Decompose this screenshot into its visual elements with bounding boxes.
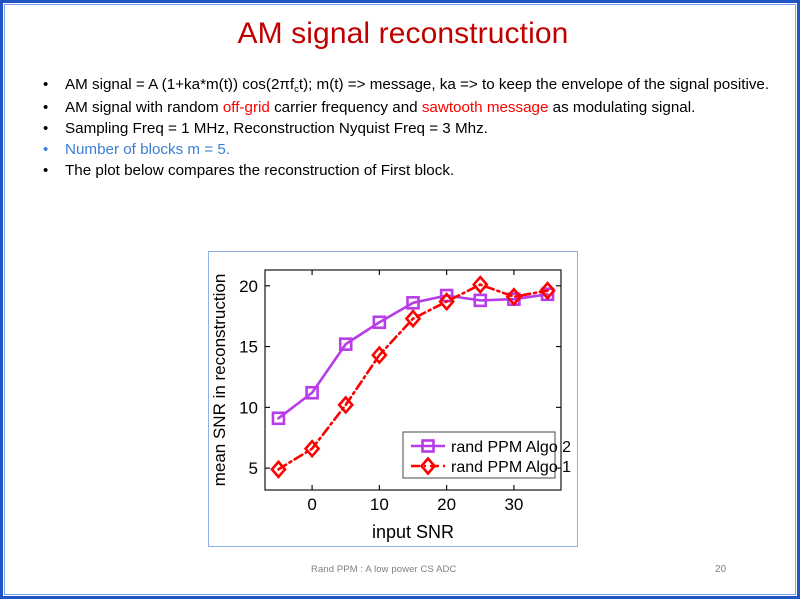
bullet-sampling-freq: •Sampling Freq = 1 MHz, Reconstruction N… xyxy=(25,119,785,138)
y-tick-label: 15 xyxy=(239,338,258,357)
x-tick-label: 30 xyxy=(504,495,523,514)
bullet-marker: • xyxy=(43,119,48,138)
bullet-text: t); m(t) => message, ka => to keep the e… xyxy=(299,76,769,93)
formula-subscript: c xyxy=(294,84,299,95)
page-number: 20 xyxy=(715,564,726,575)
x-tick-label: 10 xyxy=(370,495,389,514)
y-tick-label: 10 xyxy=(239,398,258,417)
bullet-text: Number of blocks m = 5. xyxy=(65,141,230,158)
bullet-number-of-blocks: •Number of blocks m = 5. xyxy=(25,140,785,159)
bullet-marker: • xyxy=(43,161,48,180)
legend-label-1: rand PPM Algo 2 xyxy=(451,439,571,456)
slide: AM signal reconstruction •AM signal = A … xyxy=(0,0,800,599)
bullet-am-signal-formula: •AM signal = A (1+ka*m(t)) cos(2πfct); m… xyxy=(25,75,785,96)
y-axis-label: mean SNR in reconstruction xyxy=(210,274,229,487)
bullet-text: carrier frequency and xyxy=(270,99,422,116)
x-tick-label: 0 xyxy=(307,495,316,514)
chart-legend: rand PPM Algo 2rand PPM Algo 1 xyxy=(403,432,571,478)
slide-footer: Rand PPM : A low power CS ADC 20 xyxy=(3,564,800,580)
bullet-marker: • xyxy=(43,75,48,94)
legend-label-2: rand PPM Algo 1 xyxy=(451,459,571,476)
x-tick-label: 20 xyxy=(437,495,456,514)
bullet-marker: • xyxy=(43,140,48,159)
footer-text: Rand PPM : A low power CS ADC xyxy=(311,564,456,575)
bullet-text: AM signal with random xyxy=(65,99,223,116)
x-axis-label: input SNR xyxy=(372,522,454,542)
snr-line-chart: 01020305101520input SNRmean SNR in recon… xyxy=(209,252,577,546)
bullet-plot-description: •The plot below compares the reconstruct… xyxy=(25,161,785,180)
bullet-marker: • xyxy=(43,98,48,117)
bullet-off-grid-sawtooth: •AM signal with random off-grid carrier … xyxy=(25,98,785,117)
chart-container: 01020305101520input SNRmean SNR in recon… xyxy=(208,251,578,547)
highlight-text: sawtooth message xyxy=(422,99,549,116)
bullet-text: The plot below compares the reconstructi… xyxy=(65,162,454,179)
bullet-list: •AM signal = A (1+ka*m(t)) cos(2πfct); m… xyxy=(25,75,785,182)
highlight-text: off-grid xyxy=(223,99,270,116)
y-tick-label: 5 xyxy=(249,459,258,478)
page-title: AM signal reconstruction xyxy=(3,17,800,51)
bullet-text: AM signal = A (1+ka*m(t)) cos(2πf xyxy=(65,76,294,93)
y-tick-label: 20 xyxy=(239,277,258,296)
bullet-text: as modulating signal. xyxy=(548,99,695,116)
bullet-text: Sampling Freq = 1 MHz, Reconstruction Ny… xyxy=(65,120,488,137)
